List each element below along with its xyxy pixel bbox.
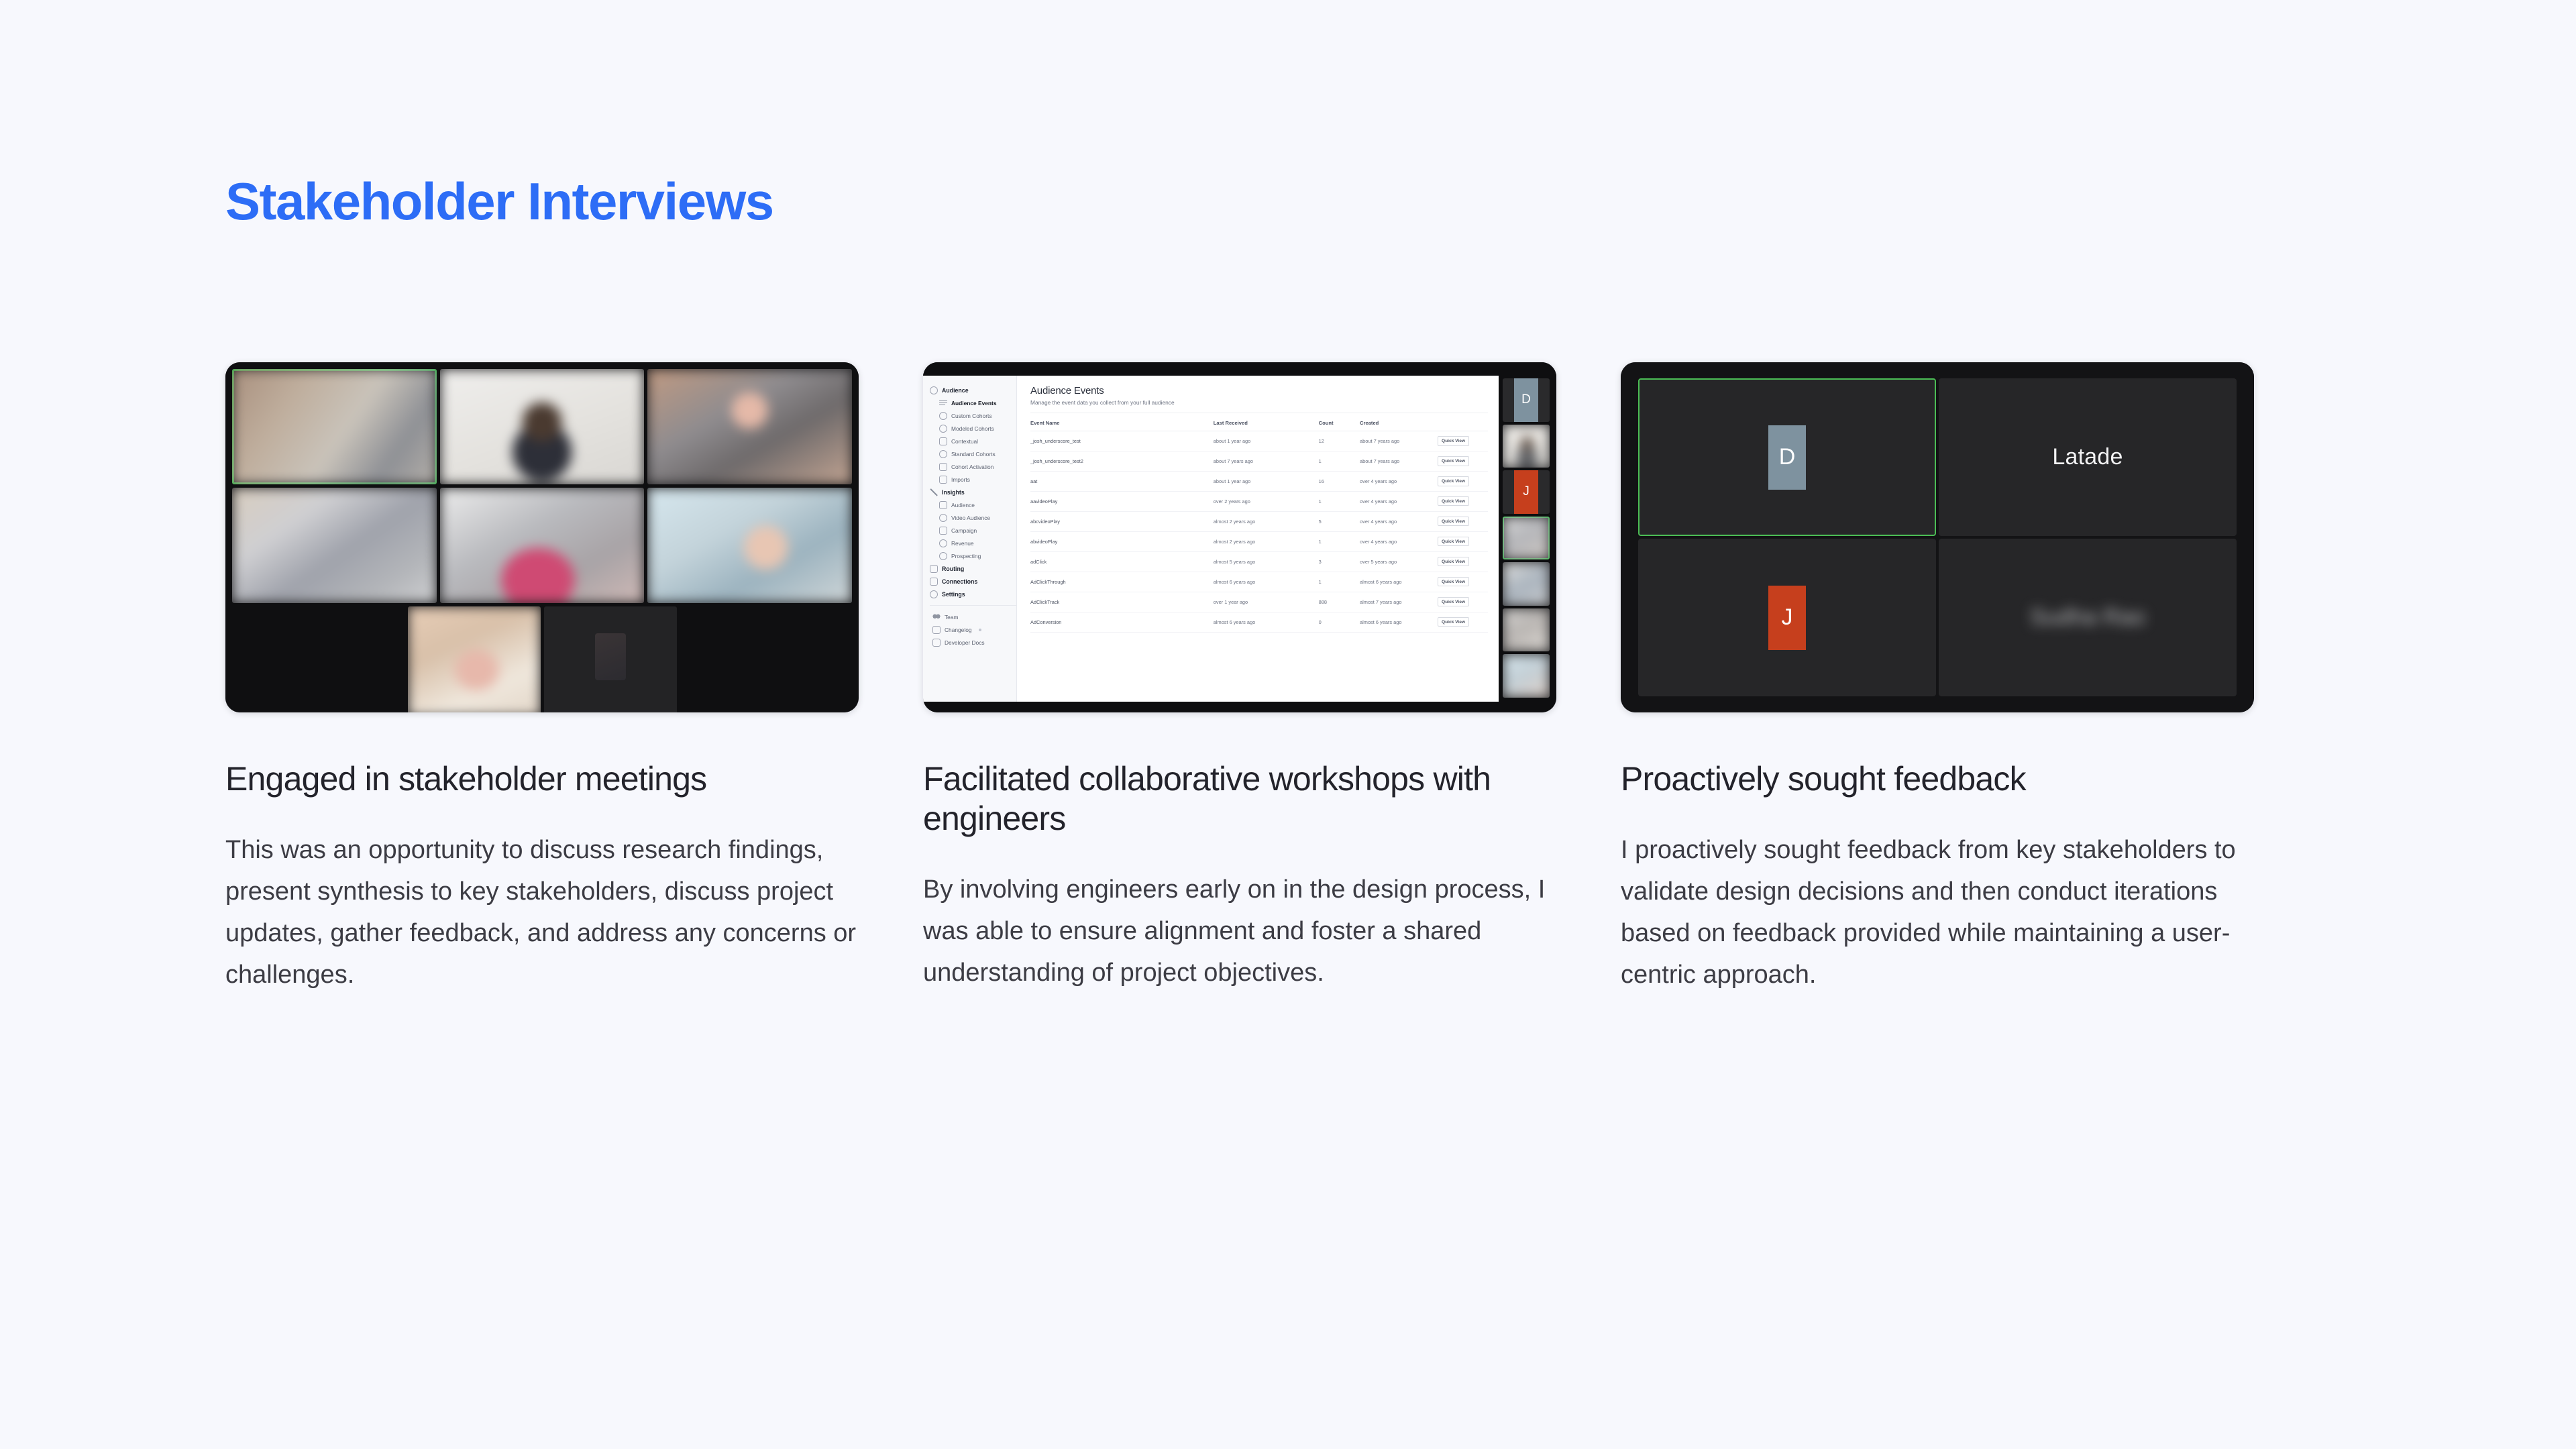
quick-view-button[interactable]: Quick View [1438, 557, 1469, 566]
table-row[interactable]: abcvideoPlay almost 2 years ago 5 over 4… [1030, 511, 1488, 531]
sidebar-item-label: Revenue [951, 540, 974, 547]
cell-created: over 4 years ago [1360, 491, 1438, 511]
sidebar-item-audience[interactable]: Audience [923, 384, 1016, 396]
cell-action: Quick View [1438, 612, 1488, 632]
screen-share-image: Audience Audience Events Custom Cohorts [923, 362, 1556, 712]
cell-action: Quick View [1438, 431, 1488, 451]
cell-event-name: AdClickTrack [1030, 592, 1214, 612]
sidebar-item-insights[interactable]: Insights [923, 486, 1016, 498]
col-created[interactable]: Created [1360, 413, 1438, 431]
sidebar-item-label: Modeled Cohorts [951, 425, 994, 432]
list-icon [939, 399, 947, 407]
sidebar-item-video-audience[interactable]: Video Audience [923, 511, 1016, 524]
quick-view-button[interactable]: Quick View [1438, 517, 1469, 526]
table-row[interactable]: _josh_underscore_test2 about 7 years ago… [1030, 451, 1488, 471]
cell-last-received: almost 5 years ago [1214, 551, 1319, 572]
quick-view-button[interactable]: Quick View [1438, 436, 1469, 445]
sidebar-item-campaign[interactable]: Campaign [923, 524, 1016, 537]
participant-tile-avatar-j[interactable]: J [1638, 539, 1936, 696]
call-grid-row-3 [232, 606, 852, 712]
sidebar-item-revenue[interactable]: Revenue [923, 537, 1016, 549]
cell-created: over 4 years ago [1360, 531, 1438, 551]
page-title: Stakeholder Interviews [225, 173, 773, 231]
participant-tile-video[interactable] [1503, 654, 1550, 698]
col-actions [1438, 413, 1488, 431]
sidebar-item-imports[interactable]: Imports [923, 473, 1016, 486]
participant-name: Latade [2052, 444, 2123, 470]
cell-last-received: about 1 year ago [1214, 431, 1319, 451]
sidebar-item-label: Imports [951, 476, 970, 483]
rocket-icon [939, 463, 947, 471]
cell-count: 1 [1319, 572, 1360, 592]
app-page-subtitle: Manage the event data you collect from y… [1030, 399, 1488, 406]
cell-action: Quick View [1438, 471, 1488, 491]
sidebar-item-team[interactable]: Team [923, 610, 1016, 623]
sidebar-item-cohort-activation[interactable]: Cohort Activation [923, 460, 1016, 473]
cell-event-name: _josh_underscore_test2 [1030, 451, 1214, 471]
cell-created: over 5 years ago [1360, 551, 1438, 572]
participant-tile[interactable] [647, 488, 852, 603]
app-viewport: Audience Audience Events Custom Cohorts [923, 376, 1499, 702]
sidebar-item-developer-docs[interactable]: Developer Docs [923, 636, 1016, 649]
cell-event-name: _josh_underscore_test [1030, 431, 1214, 451]
cell-count: 3 [1319, 551, 1360, 572]
sidebar-item-modeled-cohorts[interactable]: Modeled Cohorts [923, 422, 1016, 435]
sidebar-item-label: Developer Docs [945, 639, 985, 646]
participant-tile-avatar-j[interactable]: J [1503, 470, 1550, 514]
unread-badge [979, 629, 981, 631]
participant-tile-video[interactable] [1503, 608, 1550, 652]
cell-count: 5 [1319, 511, 1360, 531]
avatar: D [1514, 378, 1538, 422]
participant-tile[interactable] [647, 369, 852, 484]
card-body: By involving engineers early on in the d… [923, 869, 1556, 994]
participant-tile-video[interactable] [1503, 562, 1550, 606]
cell-action: Quick View [1438, 572, 1488, 592]
sidebar-item-label: Changelog [945, 627, 972, 633]
sidebar-item-prospecting[interactable]: Prospecting [923, 549, 1016, 562]
card-proactively-sought-feedback: D Latade J Sudha Rao Proactively s [1621, 362, 2254, 996]
target-icon [930, 386, 938, 394]
connections-icon [930, 578, 938, 586]
card-heading: Proactively sought feedback [1621, 759, 2254, 799]
sidebar-item-settings[interactable]: Settings [923, 588, 1016, 600]
cell-action: Quick View [1438, 551, 1488, 572]
target-icon [939, 412, 947, 420]
sidebar-item-label: Routing [942, 566, 964, 572]
cell-count: 16 [1319, 471, 1360, 491]
quick-view-button[interactable]: Quick View [1438, 476, 1469, 486]
sidebar-item-label: Insights [942, 489, 965, 496]
card-facilitated-collaborative-workshops: Audience Audience Events Custom Cohorts [923, 362, 1556, 996]
document-icon [939, 437, 947, 445]
model-icon [939, 425, 947, 433]
sidebar-item-label: Custom Cohorts [951, 413, 992, 419]
card-grid: Engaged in stakeholder meetings This was… [225, 362, 2253, 996]
binoculars-icon [939, 552, 947, 560]
participant-tile-avatar-d[interactable]: D [1503, 378, 1550, 422]
participant-tile-placeholder[interactable] [544, 606, 677, 712]
window-top-bar [923, 362, 1556, 376]
table-row[interactable]: aavideoPlay over 2 years ago 1 over 4 ye… [1030, 491, 1488, 511]
cell-created: about 7 years ago [1360, 451, 1438, 471]
cell-event-name: AdConversion [1030, 612, 1214, 632]
table-row[interactable]: _josh_underscore_test about 1 year ago 1… [1030, 431, 1488, 451]
cell-event-name: AdClickThrough [1030, 572, 1214, 592]
avatar: D [1768, 425, 1806, 490]
cell-count: 1 [1319, 531, 1360, 551]
cell-event-name: abvideoPlay [1030, 531, 1214, 551]
card-heading: Facilitated collaborative workshops with… [923, 759, 1556, 839]
cell-created: almost 6 years ago [1360, 572, 1438, 592]
table-row[interactable]: AdClickThrough almost 6 years ago 1 almo… [1030, 572, 1488, 592]
cell-last-received: almost 6 years ago [1214, 612, 1319, 632]
sidebar-item-insights-audience[interactable]: Audience [923, 498, 1016, 511]
sidebar-item-label: Video Audience [951, 515, 990, 521]
cell-count: 1 [1319, 491, 1360, 511]
table-body: _josh_underscore_test about 1 year ago 1… [1030, 431, 1488, 633]
participant-name: Sudha Rao [2030, 604, 2145, 631]
cell-last-received: almost 6 years ago [1214, 572, 1319, 592]
sidebar-item-label: Cohort Activation [951, 464, 994, 470]
table-row[interactable]: AdClickTrack over 1 year ago 888 almost … [1030, 592, 1488, 612]
cell-action: Quick View [1438, 491, 1488, 511]
cell-event-name: aat [1030, 471, 1214, 491]
table-row[interactable]: AdConversion almost 6 years ago 0 almost… [1030, 612, 1488, 632]
people-chart-icon [939, 501, 947, 509]
routing-icon [930, 565, 938, 573]
trend-icon [930, 488, 938, 496]
film-icon [939, 514, 947, 522]
cell-created: almost 7 years ago [1360, 592, 1438, 612]
people-icon [932, 613, 941, 621]
cell-last-received: about 1 year ago [1214, 471, 1319, 491]
shared-app-window: Audience Audience Events Custom Cohorts [923, 362, 1556, 712]
participant-tile[interactable] [440, 488, 645, 603]
quick-view-button[interactable]: Quick View [1438, 617, 1469, 627]
cell-created: over 4 years ago [1360, 471, 1438, 491]
participant-tile-blurred[interactable]: Sudha Rao [1939, 539, 2237, 696]
participant-strip: D J [1503, 378, 1550, 698]
participant-tile[interactable] [440, 369, 645, 484]
participant-tile[interactable] [232, 488, 437, 603]
sidebar-item-label: Campaign [951, 527, 977, 534]
participant-tile-latade[interactable]: Latade [1939, 378, 2237, 536]
call-grid-2x2: D Latade J Sudha Rao [1621, 362, 2254, 712]
participant-tile-video[interactable] [1503, 425, 1550, 468]
app-page-title: Audience Events [1030, 385, 1488, 396]
page-root: Stakeholder Interviews [0, 0, 2576, 1449]
cell-action: Quick View [1438, 592, 1488, 612]
sidebar-item-contextual[interactable]: Contextual [923, 435, 1016, 447]
sidebar-item-label: Connections [942, 578, 977, 585]
sidebar-item-changelog[interactable]: Changelog [923, 623, 1016, 636]
cell-action: Quick View [1438, 511, 1488, 531]
sidebar-divider [930, 605, 1016, 606]
table-row[interactable]: abvideoPlay almost 2 years ago 1 over 4 … [1030, 531, 1488, 551]
sidebar-item-custom-cohorts[interactable]: Custom Cohorts [923, 409, 1016, 422]
col-event-name[interactable]: Event Name [1030, 413, 1214, 431]
col-last-received[interactable]: Last Received [1214, 413, 1319, 431]
sidebar-item-label: Settings [942, 591, 965, 598]
quick-view-button[interactable]: Quick View [1438, 537, 1469, 546]
money-bag-icon [939, 539, 947, 547]
avatar: J [1514, 470, 1538, 514]
sidebar-item-label: Audience [942, 387, 969, 394]
sidebar-item-label: Team [945, 614, 958, 621]
card-engaged-in-stakeholder-meetings: Engaged in stakeholder meetings This was… [225, 362, 859, 996]
megaphone-icon [939, 527, 947, 535]
cell-created: almost 6 years ago [1360, 612, 1438, 632]
check-circle-icon [939, 450, 947, 458]
rss-icon [932, 626, 941, 634]
cell-count: 888 [1319, 592, 1360, 612]
sidebar-item-routing[interactable]: Routing [923, 562, 1016, 575]
app-sidebar: Audience Audience Events Custom Cohorts [923, 376, 1017, 702]
card-body: I proactively sought feedback from key s… [1621, 830, 2254, 996]
sidebar-item-audience-events[interactable]: Audience Events [923, 396, 1016, 409]
video-call-2x2-image: D Latade J Sudha Rao [1621, 362, 2254, 712]
cell-created: over 4 years ago [1360, 511, 1438, 531]
book-icon [932, 639, 941, 647]
call-grid-row-2 [232, 488, 852, 603]
sidebar-item-label: Contextual [951, 438, 978, 445]
cell-last-received: about 7 years ago [1214, 451, 1319, 471]
card-heading: Engaged in stakeholder meetings [225, 759, 859, 799]
cell-last-received: over 1 year ago [1214, 592, 1319, 612]
cell-created: about 7 years ago [1360, 431, 1438, 451]
audience-events-table: Event Name Last Received Count Created [1030, 413, 1488, 633]
gauge-icon [930, 590, 938, 598]
cell-last-received: almost 2 years ago [1214, 511, 1319, 531]
sidebar-item-label: Standard Cohorts [951, 451, 996, 458]
sidebar-item-label: Audience Events [951, 400, 997, 407]
sidebar-item-connections[interactable]: Connections [923, 575, 1016, 588]
cell-event-name: abcvideoPlay [1030, 511, 1214, 531]
table-row[interactable]: aat about 1 year ago 16 over 4 years ago… [1030, 471, 1488, 491]
cell-count: 0 [1319, 612, 1360, 632]
participant-tile[interactable] [232, 369, 437, 484]
table-header-row: Event Name Last Received Count Created [1030, 413, 1488, 431]
cell-count: 1 [1319, 451, 1360, 471]
call-grid [225, 362, 859, 712]
quick-view-button[interactable]: Quick View [1438, 597, 1469, 606]
cell-event-name: aavideoPlay [1030, 491, 1214, 511]
quick-view-button[interactable]: Quick View [1438, 456, 1469, 466]
participant-tile-avatar-d[interactable]: D [1638, 378, 1936, 536]
col-count[interactable]: Count [1319, 413, 1360, 431]
table-row[interactable]: adClick almost 5 years ago 3 over 5 year… [1030, 551, 1488, 572]
sidebar-item-standard-cohorts[interactable]: Standard Cohorts [923, 447, 1016, 460]
participant-tile[interactable] [408, 606, 541, 712]
video-call-grid-image [225, 362, 859, 712]
quick-view-button[interactable]: Quick View [1438, 496, 1469, 506]
card-body: This was an opportunity to discuss resea… [225, 830, 859, 996]
call-grid-row-1 [232, 369, 852, 484]
cell-action: Quick View [1438, 531, 1488, 551]
avatar-placeholder-icon [595, 633, 626, 680]
cell-count: 12 [1319, 431, 1360, 451]
quick-view-button[interactable]: Quick View [1438, 577, 1469, 586]
sidebar-item-label: Prospecting [951, 553, 981, 559]
cell-event-name: adClick [1030, 551, 1214, 572]
import-icon [939, 476, 947, 484]
avatar: J [1768, 586, 1806, 650]
app-main-content: Audience Events Manage the event data yo… [1017, 376, 1499, 702]
cell-last-received: almost 2 years ago [1214, 531, 1319, 551]
cell-last-received: over 2 years ago [1214, 491, 1319, 511]
sidebar-item-label: Audience [951, 502, 975, 508]
cell-action: Quick View [1438, 451, 1488, 471]
participant-tile-video[interactable] [1503, 517, 1550, 560]
